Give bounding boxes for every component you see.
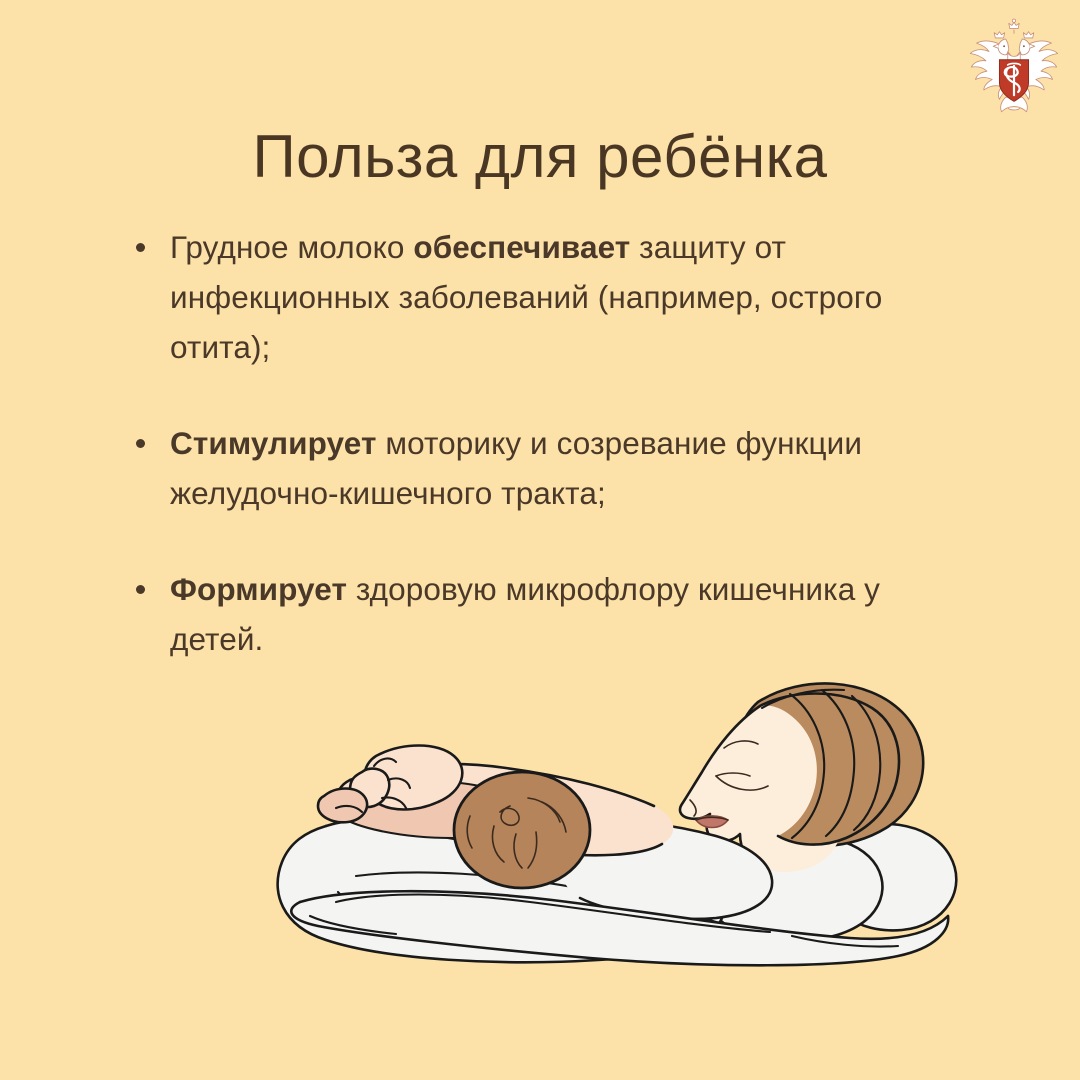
benefit-1-lead: Грудное молоко xyxy=(170,229,413,265)
page-title: Польза для ребёнка xyxy=(0,120,1080,194)
ministry-of-health-emblem-icon xyxy=(962,14,1066,118)
bullet-dot-icon xyxy=(136,439,145,448)
benefit-text-1: Грудное молоко обеспечивает защиту от ин… xyxy=(170,229,882,365)
bullet-dot-icon xyxy=(136,585,145,594)
benefit-item-1: Грудное молоко обеспечивает защиту от ин… xyxy=(133,222,923,372)
benefit-3-bold: Формирует xyxy=(170,571,347,607)
mother-sleeping-with-baby-illustration: .ln { fill:none; stroke:#1A1A1A; stroke-… xyxy=(150,630,960,980)
benefit-item-2: Стимулирует моторику и созревание функци… xyxy=(133,418,923,518)
benefit-text-2: Стимулирует моторику и созревание функци… xyxy=(170,425,862,511)
infographic-canvas: Польза для ребёнка Грудное молоко обеспе… xyxy=(0,0,1080,1080)
benefit-2-bold: Стимулирует xyxy=(170,425,376,461)
bullet-dot-icon xyxy=(136,243,145,252)
benefits-list: Грудное молоко обеспечивает защиту от ин… xyxy=(133,222,923,664)
benefit-1-bold: обеспечивает xyxy=(413,229,630,265)
